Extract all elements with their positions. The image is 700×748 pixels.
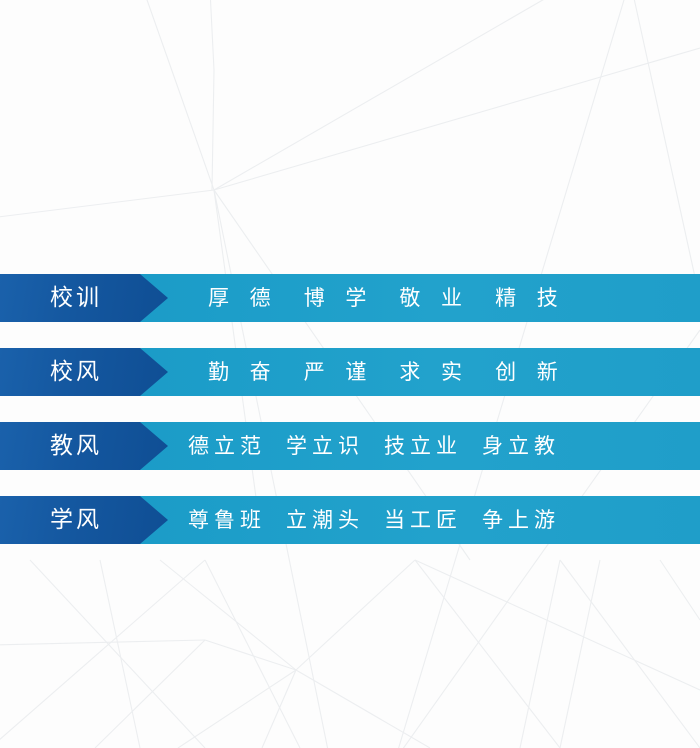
row-label-text: 教风: [0, 435, 102, 458]
row-word: 厚 德: [208, 288, 278, 309]
row-word: 技立业: [384, 436, 462, 457]
row-word: 敬 业: [399, 288, 469, 309]
row-words: 厚 德 博 学 敬 业 精 技: [208, 288, 565, 309]
row-label-block: 学风: [0, 496, 168, 544]
banner-row: 德立范 学立识 技立业 身立教 教风: [0, 422, 700, 470]
row-word: 争上游: [482, 510, 560, 531]
row-word: 创 新: [495, 362, 565, 383]
row-content-block: 德立范 学立识 技立业 身立教: [140, 422, 700, 470]
row-word: 学立识: [286, 436, 364, 457]
row-word: 求 实: [399, 362, 469, 383]
banner-row: 厚 德 博 学 敬 业 精 技 校训: [0, 274, 700, 322]
row-label-text: 学风: [0, 509, 102, 532]
row-content-block: 勤 奋 严 谨 求 实 创 新: [140, 348, 700, 396]
row-word: 尊鲁班: [188, 510, 266, 531]
row-words: 尊鲁班 立潮头 当工匠 争上游: [188, 510, 580, 531]
row-word: 严 谨: [304, 362, 374, 383]
banner-row-list: 厚 德 博 学 敬 业 精 技 校训 勤 奋 严 谨 求 实 创 新: [0, 274, 700, 544]
row-words: 德立范 学立识 技立业 身立教: [188, 436, 580, 457]
culture-banner-poster: 厚 德 博 学 敬 业 精 技 校训 勤 奋 严 谨 求 实 创 新: [0, 0, 700, 748]
row-label-block: 教风: [0, 422, 168, 470]
row-word: 勤 奋: [208, 362, 278, 383]
row-content-block: 尊鲁班 立潮头 当工匠 争上游: [140, 496, 700, 544]
row-word: 当工匠: [384, 510, 462, 531]
row-label-block: 校训: [0, 274, 168, 322]
row-label-text: 校训: [0, 287, 102, 310]
row-word: 精 技: [495, 288, 565, 309]
row-label-text: 校风: [0, 361, 102, 384]
row-word: 博 学: [304, 288, 374, 309]
row-words: 勤 奋 严 谨 求 实 创 新: [208, 362, 565, 383]
row-label-block: 校风: [0, 348, 168, 396]
banner-row: 尊鲁班 立潮头 当工匠 争上游 学风: [0, 496, 700, 544]
row-word: 德立范: [188, 436, 266, 457]
row-content-block: 厚 德 博 学 敬 业 精 技: [140, 274, 700, 322]
row-word: 身立教: [482, 436, 560, 457]
row-word: 立潮头: [286, 510, 364, 531]
banner-row: 勤 奋 严 谨 求 实 创 新 校风: [0, 348, 700, 396]
